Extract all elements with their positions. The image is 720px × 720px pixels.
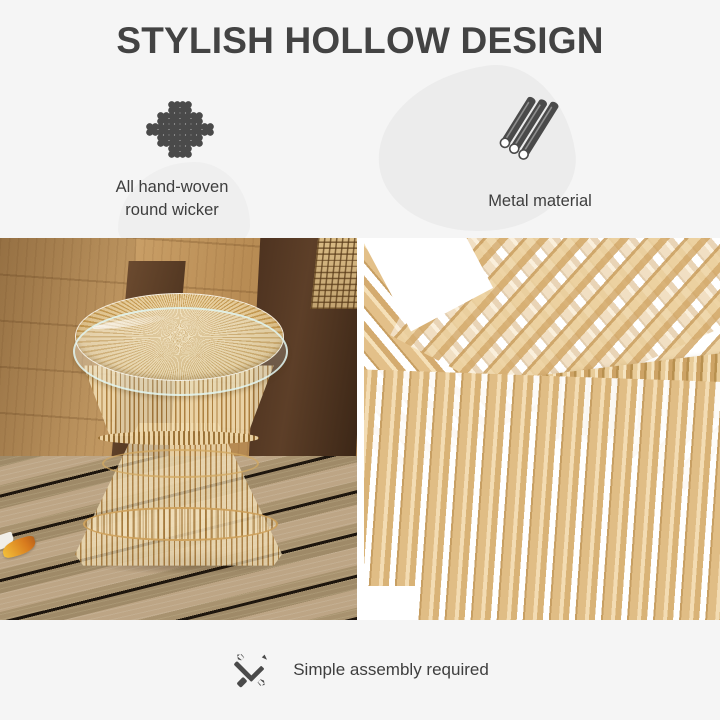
rattan-weave-closeup-photo [364, 238, 720, 620]
photo-divider [357, 238, 364, 620]
table-base-ring-lower [83, 507, 277, 541]
feature-row: All hand-woven round wicker [0, 100, 720, 230]
rattan-side-table [75, 293, 282, 568]
product-feature-banner: STYLISH HOLLOW DESIGN [0, 0, 720, 720]
table-skirt-band [98, 431, 259, 445]
cane-panel [310, 238, 357, 309]
feature-label-hand-woven-wicker: All hand-woven round wicker [116, 176, 229, 223]
woven-wicker-icon [141, 100, 219, 166]
macro-weave-background [364, 238, 720, 620]
macro-corner-highlight-bottom-left [364, 586, 417, 620]
feature-metal-material: Metal material [360, 100, 720, 230]
assembly-note-label: Simple assembly required [293, 660, 489, 680]
metal-tubes-icon [489, 100, 565, 166]
page-title: STYLISH HOLLOW DESIGN [0, 22, 720, 59]
tools-assembly-icon [231, 650, 271, 690]
feature-label-metal-material: Metal material [488, 190, 592, 213]
vertical-rattan-rods [364, 369, 720, 620]
wicker-side-table-photo [0, 238, 357, 620]
assembly-note: Simple assembly required [0, 620, 720, 720]
feature-hand-woven-wicker: All hand-woven round wicker [0, 100, 360, 230]
glass-top [73, 307, 288, 396]
product-photo-strip [0, 238, 720, 620]
table-base-ring-upper [102, 449, 259, 478]
